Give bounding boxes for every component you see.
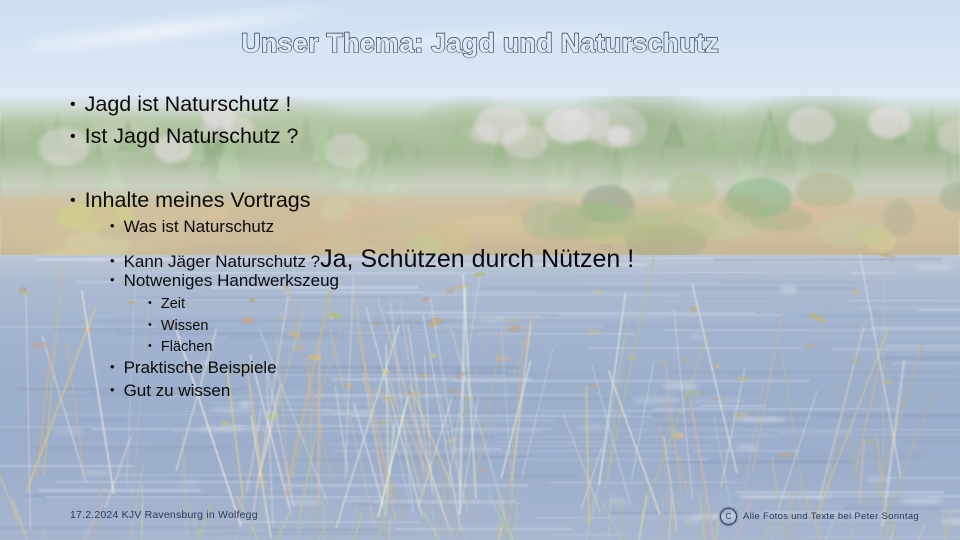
bullet-text: Inhalte meines Vortrags xyxy=(85,188,311,213)
bullet-glyph: • xyxy=(110,219,115,232)
copyright-icon: C xyxy=(720,508,737,525)
sub-sub-bullet-item: • Zeit xyxy=(148,296,185,312)
bullet-glyph: • xyxy=(110,273,115,286)
bullet-text: Was ist Naturschutz xyxy=(124,217,275,237)
bullet-text: Ist Jagd Naturschutz ? xyxy=(85,124,299,149)
bullet-text: Gut zu wissen xyxy=(124,381,231,401)
bullet-glyph: • xyxy=(70,129,76,145)
footer-credit-text: Alle Fotos und Texte bei Peter Sonntag xyxy=(743,511,919,522)
emphasis-text: Ja, Schützen durch Nützen ! xyxy=(320,245,634,274)
slide-body: • Jagd ist Naturschutz ! • Ist Jagd Natu… xyxy=(0,0,960,540)
bullet-glyph: • xyxy=(148,298,152,309)
bullet-item: • Ist Jagd Naturschutz ? xyxy=(70,124,299,149)
sub-bullet-item: • Gut zu wissen xyxy=(110,381,230,401)
bullet-text: Wissen xyxy=(161,318,209,334)
bullet-glyph: • xyxy=(70,193,76,209)
sub-bullet-item: • Praktische Beispiele xyxy=(110,358,277,378)
bullet-text: Notweniges Handwerkszeug xyxy=(124,271,339,291)
sub-bullet-item: • Was ist Naturschutz xyxy=(110,217,274,237)
bullet-glyph: • xyxy=(110,383,115,396)
bullet-text: Kann Jäger Naturschutz ? xyxy=(124,252,321,272)
bullet-glyph: • xyxy=(110,360,115,373)
footer-date-location: 17.2.2024 KJV Ravensburg in Wolfegg xyxy=(70,509,258,521)
bullet-text: Praktische Beispiele xyxy=(124,358,277,378)
sub-sub-bullet-item: • Wissen xyxy=(148,318,208,334)
sub-sub-bullet-item: • Flächen xyxy=(148,339,212,355)
presentation-slide: Unser Thema: Jagd und Naturschutz • Jagd… xyxy=(0,0,960,540)
bullet-glyph: • xyxy=(110,254,115,267)
bullet-glyph: • xyxy=(70,97,76,113)
sub-bullet-item: • Kann Jäger Naturschutz ? Ja, Schützen … xyxy=(110,245,634,274)
footer-credit: C Alle Fotos und Texte bei Peter Sonntag xyxy=(720,508,919,525)
bullet-text: Flächen xyxy=(161,339,213,355)
bullet-glyph: • xyxy=(148,320,152,331)
sub-bullet-item: • Notweniges Handwerkszeug xyxy=(110,271,339,291)
bullet-text: Zeit xyxy=(161,296,185,312)
bullet-item: • Jagd ist Naturschutz ! xyxy=(70,92,291,117)
bullet-text: Jagd ist Naturschutz ! xyxy=(85,92,292,117)
bullet-item: • Inhalte meines Vortrags xyxy=(70,188,311,213)
bullet-glyph: • xyxy=(148,341,152,352)
